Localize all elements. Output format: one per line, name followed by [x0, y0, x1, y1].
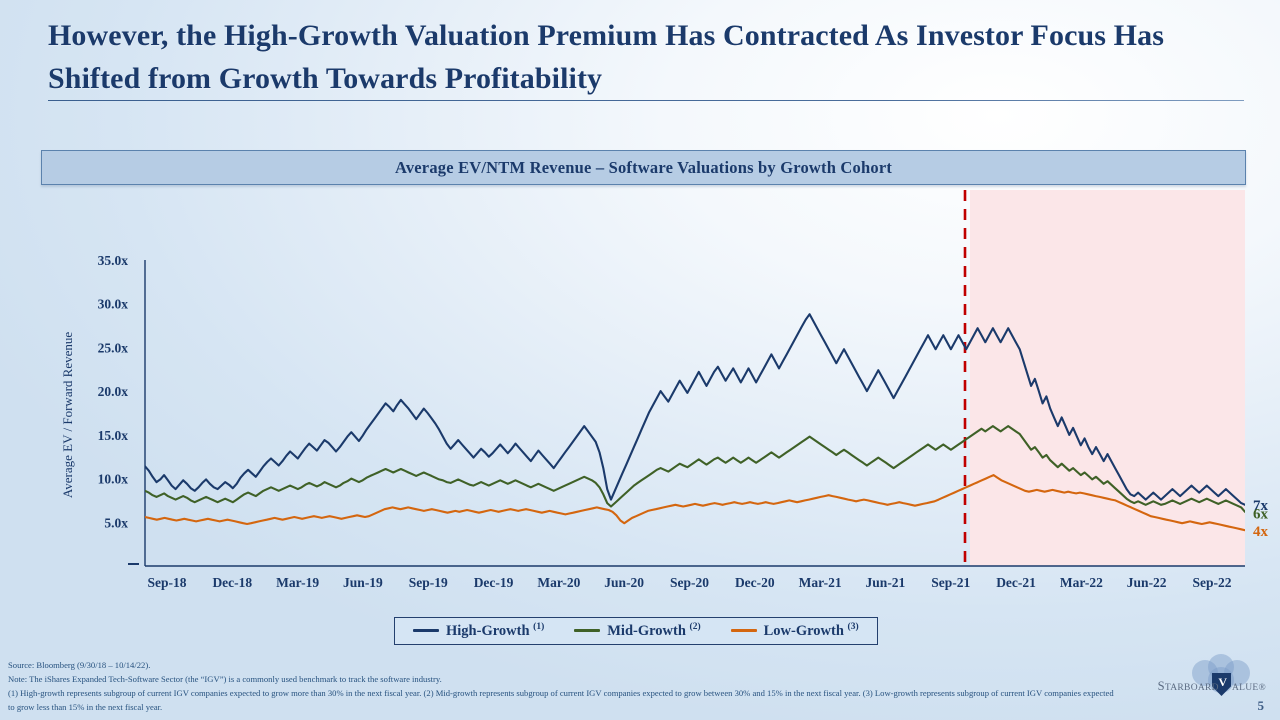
footnote-source: Source: Bloomberg (9/30/18 – 10/14/22).	[8, 659, 1118, 673]
x-tick-label: Sep-19	[409, 575, 448, 590]
title-divider	[48, 100, 1244, 101]
footnote-note: Note: The iShares Expanded Tech-Software…	[8, 673, 1118, 687]
x-tick-label: Sep-22	[1192, 575, 1231, 590]
legend-item-high-growth[interactable]: High-Growth (1)	[413, 622, 544, 640]
x-tick-label: Dec-20	[735, 575, 775, 590]
legend-label: Mid-Growth (2)	[607, 622, 700, 640]
y-tick-label: 10.0x	[98, 472, 129, 487]
legend-label: Low-Growth (3)	[764, 622, 859, 640]
legend-swatch-icon	[574, 629, 600, 632]
legend-item-low-growth[interactable]: Low-Growth (3)	[731, 622, 859, 640]
x-tick-labels: Sep-18Dec-18Mar-19Jun-19Sep-19Dec-19Mar-…	[147, 575, 1231, 590]
x-tick-label: Sep-21	[931, 575, 970, 590]
y-tick-labels: 5.0x10.0x15.0x20.0x25.0x30.0x35.0x	[98, 253, 129, 530]
chart-banner-title: Average EV/NTM Revenue – Software Valuat…	[395, 158, 892, 178]
slide: However, the High-Growth Valuation Premi…	[0, 0, 1280, 720]
legend-swatch-icon	[731, 629, 757, 632]
x-tick-label: Mar-20	[537, 575, 580, 590]
chart-legend: High-Growth (1)Mid-Growth (2)Low-Growth …	[394, 617, 878, 645]
y-tick-label: 20.0x	[98, 384, 129, 399]
legend-swatch-icon	[413, 629, 439, 632]
legend-footnote-ref: (3)	[848, 622, 859, 632]
y-tick-label: 30.0x	[98, 297, 129, 312]
footnote-definitions: (1) High-growth represents subgroup of c…	[8, 687, 1118, 715]
x-tick-label: Mar-19	[276, 575, 319, 590]
legend-footnote-ref: (1)	[533, 622, 544, 632]
end-labels: 7x6x4x	[1253, 498, 1269, 540]
x-tick-label: Jun-22	[1127, 575, 1167, 590]
legend-label: High-Growth (1)	[446, 622, 544, 640]
y-axis-title: Average EV / Forward Revenue	[60, 332, 75, 499]
page-title: However, the High-Growth Valuation Premi…	[48, 14, 1244, 100]
x-tick-label: Sep-20	[670, 575, 709, 590]
title-block: However, the High-Growth Valuation Premi…	[48, 14, 1244, 100]
end-label-4x: 4x	[1253, 524, 1269, 540]
end-label-6x: 6x	[1253, 507, 1269, 523]
x-tick-label: Dec-18	[212, 575, 252, 590]
chart-banner: Average EV/NTM Revenue – Software Valuat…	[41, 150, 1246, 185]
x-tick-label: Jun-19	[343, 575, 383, 590]
x-tick-label: Sep-18	[147, 575, 186, 590]
x-tick-label: Jun-20	[604, 575, 644, 590]
y-tick-label: 25.0x	[98, 340, 129, 355]
footnotes: Source: Bloomberg (9/30/18 – 10/14/22). …	[8, 659, 1118, 715]
shaded-region	[970, 190, 1245, 566]
logo-word-value: ALUE	[1232, 679, 1259, 693]
legend-item-mid-growth[interactable]: Mid-Growth (2)	[574, 622, 700, 640]
x-tick-label: Mar-21	[799, 575, 842, 590]
logo-word-starboard: STARBOARD	[1158, 679, 1219, 693]
x-tick-label: Jun-21	[866, 575, 906, 590]
y-tick-label: 5.0x	[104, 515, 128, 530]
logo-text: STARBOARDxxALUE®	[1158, 679, 1266, 694]
page-number: 5	[1258, 698, 1265, 714]
logo-trademark: ®	[1258, 683, 1266, 693]
legend-footnote-ref: (2)	[690, 622, 701, 632]
y-tick-label: 15.0x	[98, 428, 129, 443]
x-tick-label: Dec-21	[996, 575, 1036, 590]
x-tick-label: Mar-22	[1060, 575, 1103, 590]
x-tick-label: Dec-19	[474, 575, 514, 590]
y-tick-label: 35.0x	[98, 253, 129, 268]
line-chart: Average EV / Forward Revenue 5.0x10.0x15…	[0, 190, 1280, 610]
chart-container: Average EV / Forward Revenue 5.0x10.0x15…	[0, 190, 1280, 610]
